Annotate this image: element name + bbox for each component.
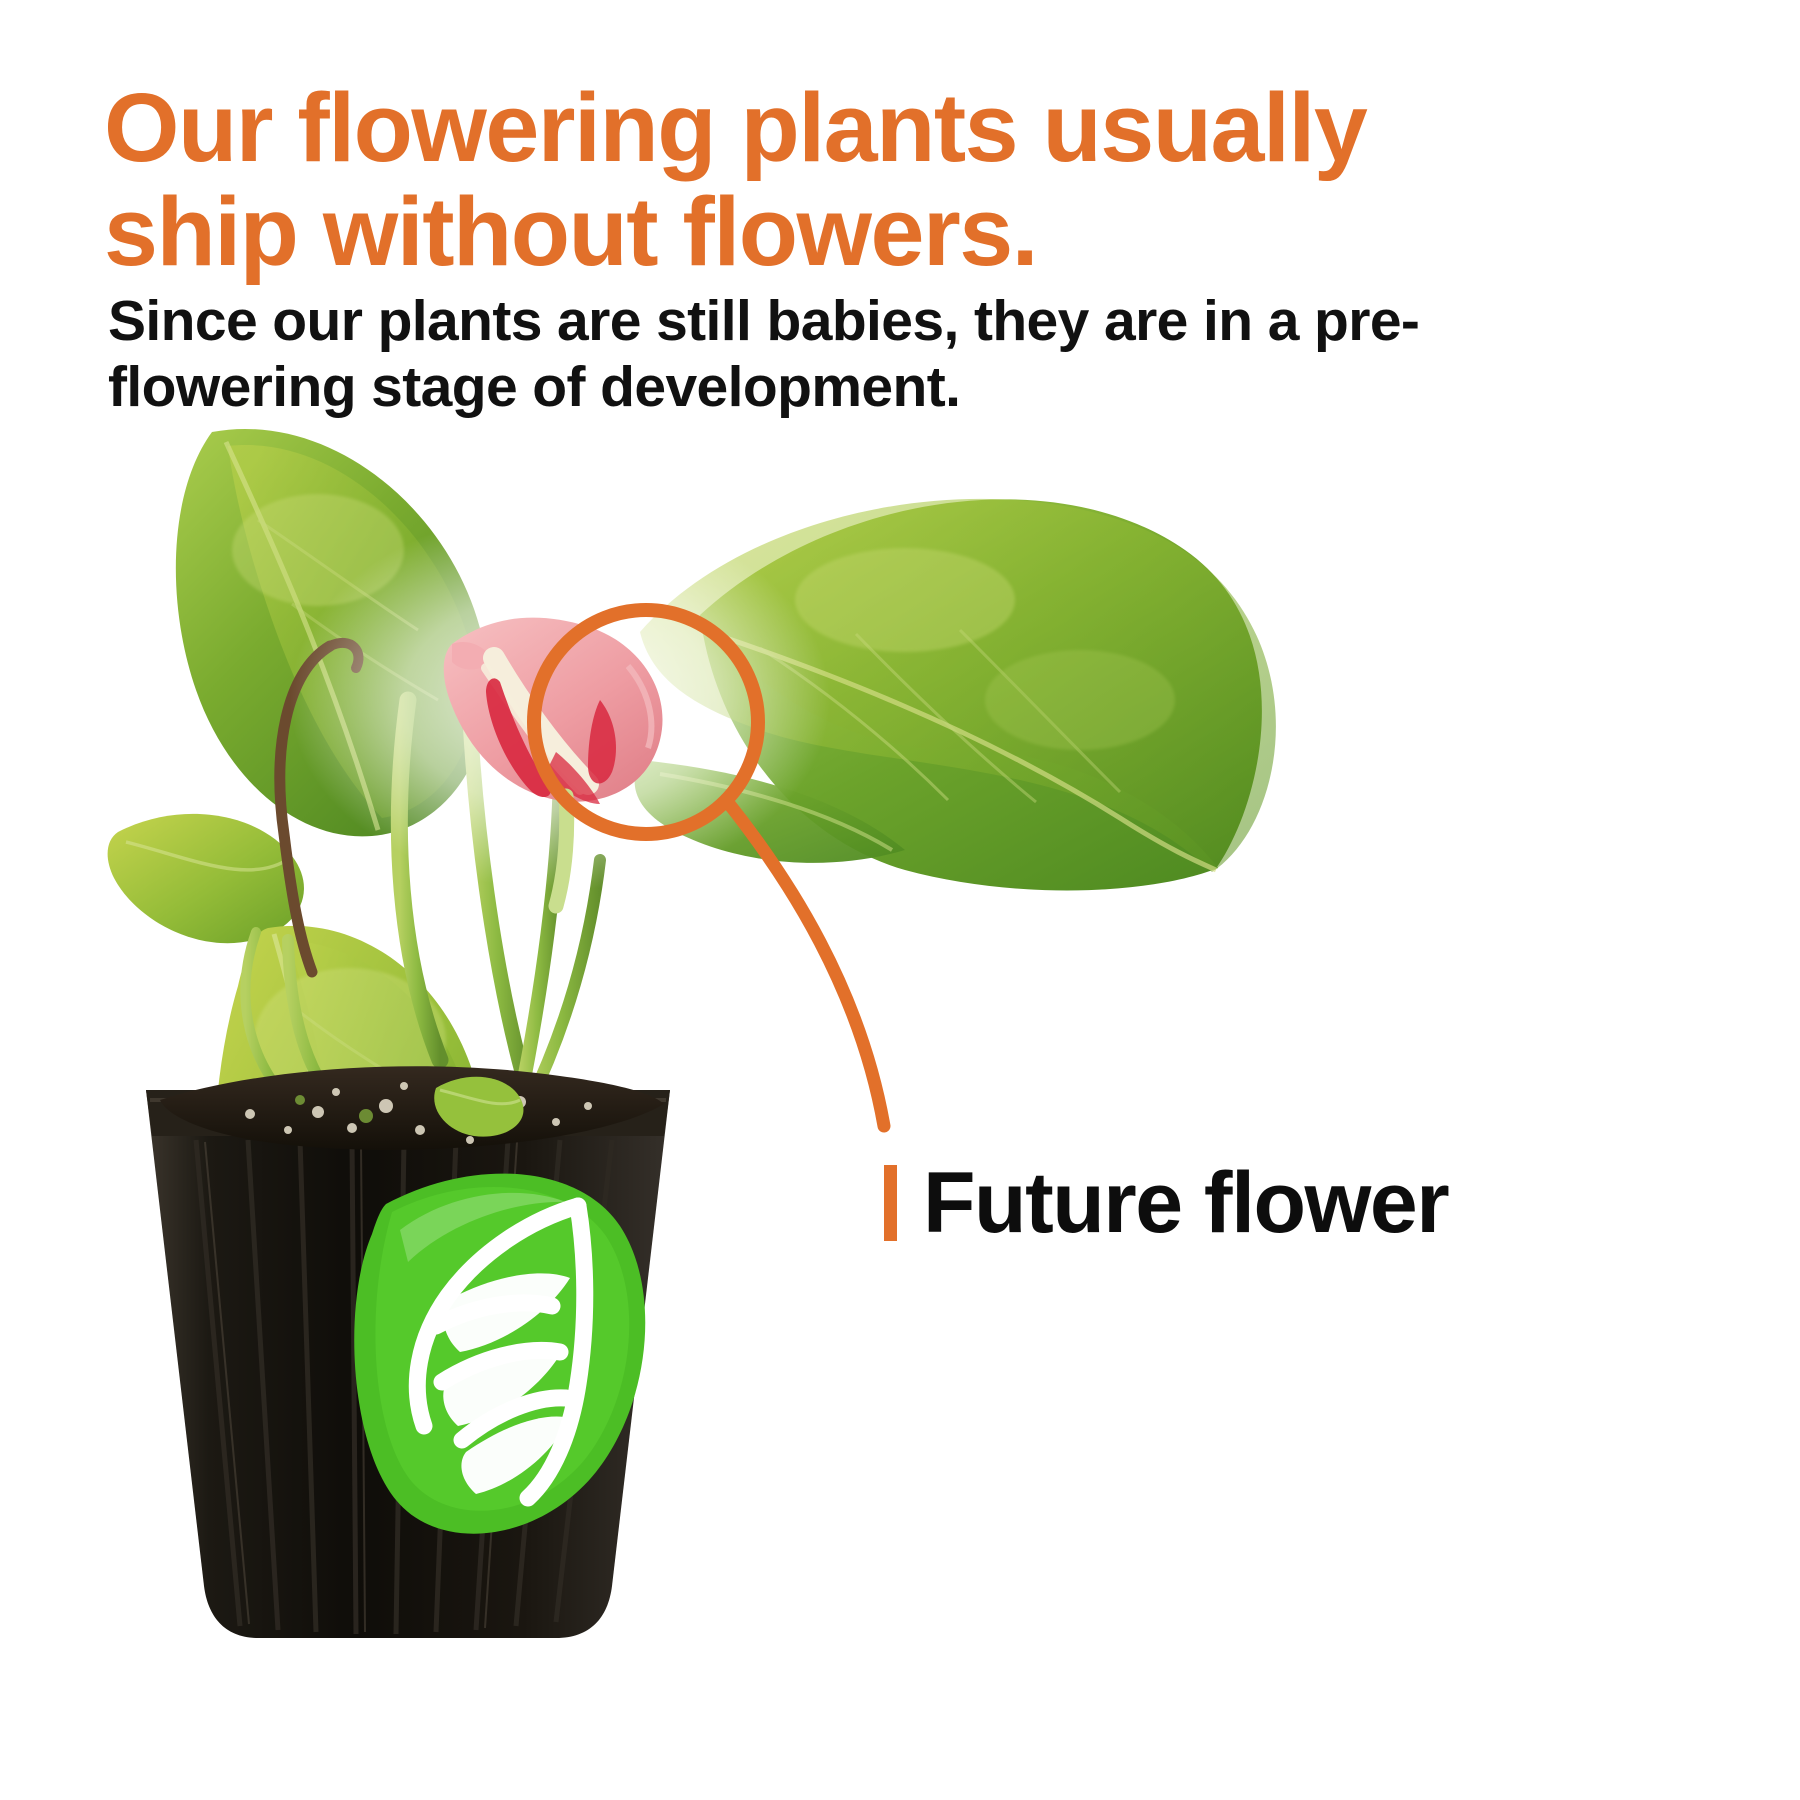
callout-accent-bar — [884, 1165, 897, 1241]
future-flower-callout: Future flower — [884, 1160, 1448, 1246]
callout-label: Future flower — [923, 1160, 1448, 1246]
page-subheadline: Since our plants are still babies, they … — [108, 288, 1508, 420]
plant-photo — [0, 400, 1500, 1800]
leaf-small-left — [108, 814, 304, 943]
page-headline: Our flowering plants usually ship withou… — [104, 76, 1744, 284]
infographic-page: Future flower Our flowering plants usual… — [0, 0, 1800, 1800]
